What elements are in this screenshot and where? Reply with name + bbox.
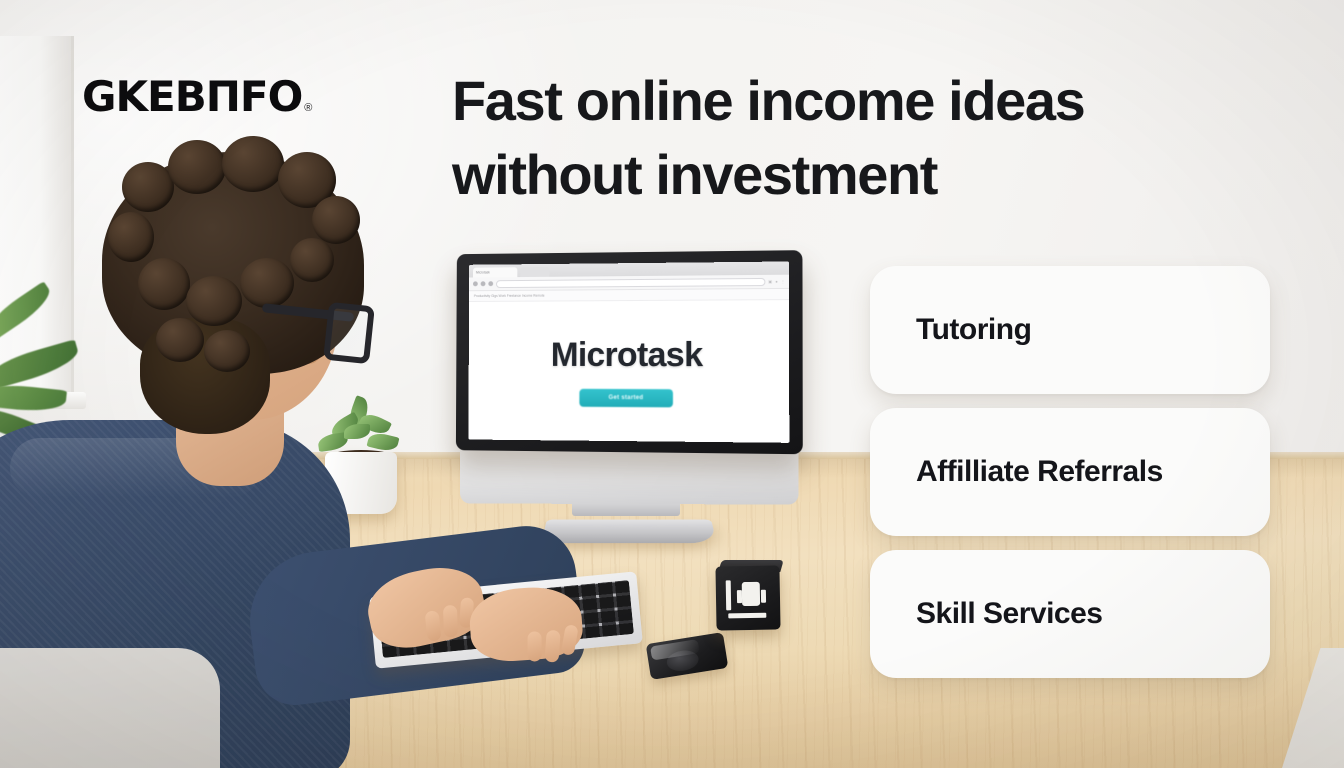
- website-content: Microtask Get started: [468, 300, 789, 443]
- hair-curl: [290, 238, 334, 282]
- cube-glyph-square-icon: [742, 582, 760, 606]
- finger: [425, 610, 442, 641]
- browser-tab-active[interactable]: Microtask: [473, 267, 517, 277]
- headline-line-1: Fast online income ideas: [452, 69, 1084, 132]
- finger: [545, 630, 561, 663]
- promotional-graphic-scene: Microtask ▣ ● ⋮ Productivity Gigs Work F…: [0, 0, 1344, 768]
- finger: [443, 605, 458, 637]
- cube-gadget[interactable]: [715, 565, 780, 630]
- brand-name: GKEBΠFO: [82, 76, 302, 118]
- forward-icon[interactable]: [481, 281, 486, 286]
- profile-icon[interactable]: ●: [775, 279, 777, 284]
- monitor-foot: [541, 520, 717, 544]
- cube-glyph-tick-icon: [737, 590, 742, 603]
- reload-icon[interactable]: [488, 281, 493, 286]
- hair-curl: [156, 318, 204, 362]
- monitor-chin: [460, 447, 798, 504]
- card-label: Skill Services: [916, 597, 1102, 631]
- website-cta-button[interactable]: Get started: [579, 388, 674, 407]
- card-affiliate-referrals[interactable]: Affilliate Referrals: [870, 408, 1270, 536]
- hair-curl: [204, 330, 250, 372]
- trademark-symbol: ®: [304, 103, 312, 118]
- monitor-screen: Microtask ▣ ● ⋮ Productivity Gigs Work F…: [468, 261, 789, 442]
- card-skill-services[interactable]: Skill Services: [870, 550, 1270, 678]
- address-bar[interactable]: [496, 277, 765, 287]
- cube-glyph-underline-icon: [728, 613, 766, 619]
- browser-tab-inactive[interactable]: [520, 267, 549, 277]
- cube-glyph-tick-icon: [761, 590, 766, 603]
- hair-curl: [240, 258, 294, 308]
- headline-line-2: without investment: [452, 138, 1212, 212]
- hair-curl: [138, 258, 190, 310]
- brand-logo[interactable]: GKEBΠFO ®: [82, 76, 312, 118]
- card-label: Affilliate Referrals: [916, 455, 1163, 489]
- card-tutoring[interactable]: Tutoring: [870, 266, 1270, 394]
- hair-curl: [122, 162, 174, 212]
- hair-curl: [108, 212, 154, 262]
- menu-icon[interactable]: ⋮: [781, 279, 785, 284]
- browser-toolbar-right-icons: ▣ ● ⋮: [768, 279, 785, 284]
- website-title: Microtask: [551, 335, 703, 374]
- back-icon[interactable]: [473, 281, 478, 286]
- eyeglasses-lens: [323, 302, 375, 364]
- browser-nav-controls: [473, 281, 493, 286]
- hair-curl: [168, 140, 226, 194]
- hair-curl: [312, 196, 360, 244]
- card-label: Tutoring: [916, 313, 1031, 347]
- cube-glyph-bar-icon: [726, 580, 732, 610]
- extension-icon[interactable]: ▣: [768, 279, 772, 284]
- hair-curl: [222, 136, 284, 192]
- hair-curl: [186, 276, 242, 326]
- office-chair: [0, 648, 220, 768]
- income-ideas-card-list: Tutoring Affilliate Referrals Skill Serv…: [870, 266, 1270, 692]
- finger: [528, 631, 542, 661]
- page-title: Fast online income ideas without investm…: [452, 64, 1212, 212]
- desktop-monitor: Microtask ▣ ● ⋮ Productivity Gigs Work F…: [452, 252, 800, 452]
